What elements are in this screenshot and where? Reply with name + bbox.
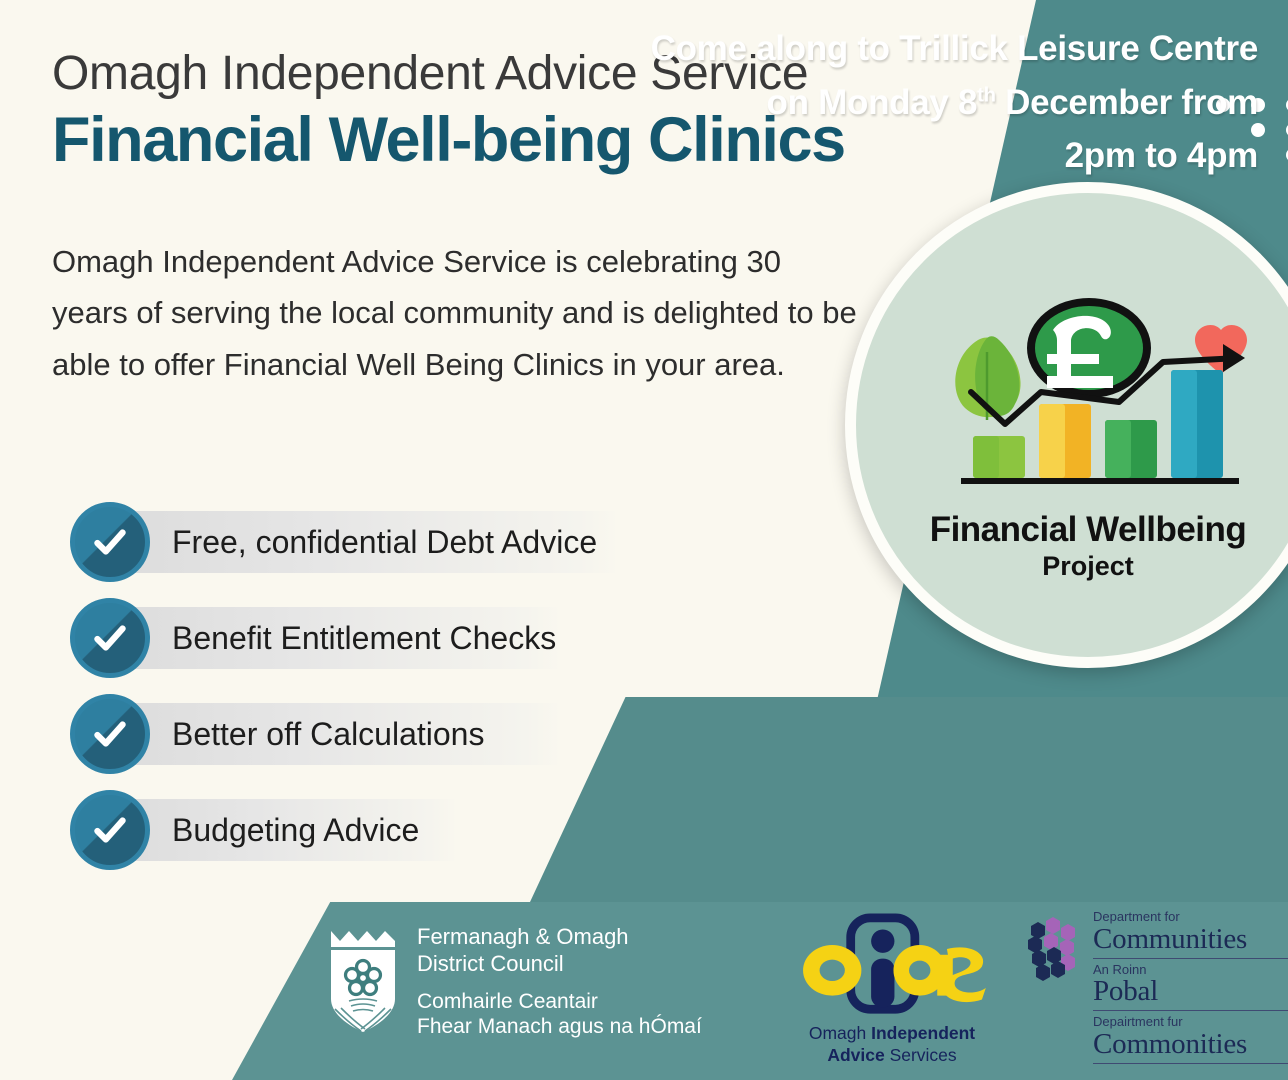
list-item-label: Budgeting Advice <box>172 812 419 849</box>
oias-logo-icon <box>795 912 990 1017</box>
event-date-ordinal: th <box>977 84 996 106</box>
oias-caption-line1: Omagh Independent <box>777 1022 1007 1044</box>
dfc-en-big: Communities <box>1093 925 1288 955</box>
oias-independent: Independent <box>871 1023 975 1043</box>
dfc-logo: Department for Communities An Roinn Poba… <box>1022 910 1288 1068</box>
oias-omagh: Omagh <box>809 1023 871 1043</box>
council-name-ga: Comhairle Ceantair Fhear Manach agus na … <box>417 989 702 1040</box>
financial-wellbeing-logo: Financial Wellbeing Project <box>845 182 1288 668</box>
oias-logo: Omagh Independent Advice Services <box>777 912 1007 1066</box>
check-icon <box>70 598 150 678</box>
list-item: Free, confidential Debt Advice <box>70 503 630 581</box>
event-line-2-suffix: December from <box>996 83 1258 122</box>
logo-circle: Financial Wellbeing Project <box>845 182 1288 668</box>
dfc-divider <box>1093 958 1288 959</box>
pound-coin-icon <box>1027 298 1151 398</box>
event-details-panel <box>530 697 1288 902</box>
list-item: Benefit Entitlement Checks <box>70 599 630 677</box>
oias-advice: Advice <box>827 1045 884 1065</box>
dfc-divider <box>1093 1010 1288 1011</box>
council-ga-line2: Fhear Manach agus na hÓmaí <box>417 1014 702 1040</box>
check-icon <box>70 790 150 870</box>
event-details-text: Come along to Trillick Leisure Centre on… <box>588 22 1258 183</box>
list-item: Better off Calculations <box>70 695 630 773</box>
list-item: Budgeting Advice <box>70 791 630 869</box>
event-line-1: Come along to Trillick Leisure Centre <box>651 29 1258 68</box>
list-item-label: Better off Calculations <box>172 716 484 753</box>
logo-title: Financial Wellbeing <box>930 510 1247 550</box>
list-item-label: Free, confidential Debt Advice <box>172 524 597 561</box>
intro-paragraph: Omagh Independent Advice Service is cele… <box>52 236 862 390</box>
council-name: Fermanagh & Omagh District Council Comha… <box>417 924 702 1040</box>
check-icon <box>70 502 150 582</box>
dfc-hexagon-icon <box>1022 916 1080 986</box>
heart-icon <box>1195 325 1247 374</box>
dfc-text: Department for Communities An Roinn Poba… <box>1093 910 1288 1068</box>
dfc-ul-big: Commonities <box>1093 1030 1288 1060</box>
logo-artwork <box>923 296 1253 506</box>
event-line-2-prefix: on Monday 8 <box>767 83 978 122</box>
council-name-en: Fermanagh & Omagh District Council <box>417 924 702 978</box>
footer-logos: Fermanagh & Omagh District Council Comha… <box>232 902 1288 1080</box>
oias-caption: Omagh Independent Advice Services <box>777 1022 1007 1066</box>
oias-services: Services <box>885 1045 957 1065</box>
council-logo: Fermanagh & Omagh District Council Comha… <box>327 924 702 1040</box>
council-ga-line1: Comhairle Ceantair <box>417 989 702 1015</box>
dfc-ga-big: Pobal <box>1093 977 1288 1007</box>
council-crest-icon <box>327 929 399 1035</box>
list-item-label: Benefit Entitlement Checks <box>172 620 556 657</box>
dfc-divider <box>1093 1063 1288 1064</box>
council-en-line2: District Council <box>417 951 702 978</box>
oias-caption-line2: Advice Services <box>777 1044 1007 1066</box>
poster-canvas: Financial Wellbeing Project Omagh Indepe… <box>0 0 1288 1080</box>
services-checklist: Free, confidential Debt Advice Benefit E… <box>70 503 630 887</box>
council-en-line1: Fermanagh & Omagh <box>417 924 702 951</box>
event-line-3: 2pm to 4pm <box>1065 136 1258 175</box>
logo-subtitle: Project <box>1042 551 1134 582</box>
check-icon <box>70 694 150 774</box>
